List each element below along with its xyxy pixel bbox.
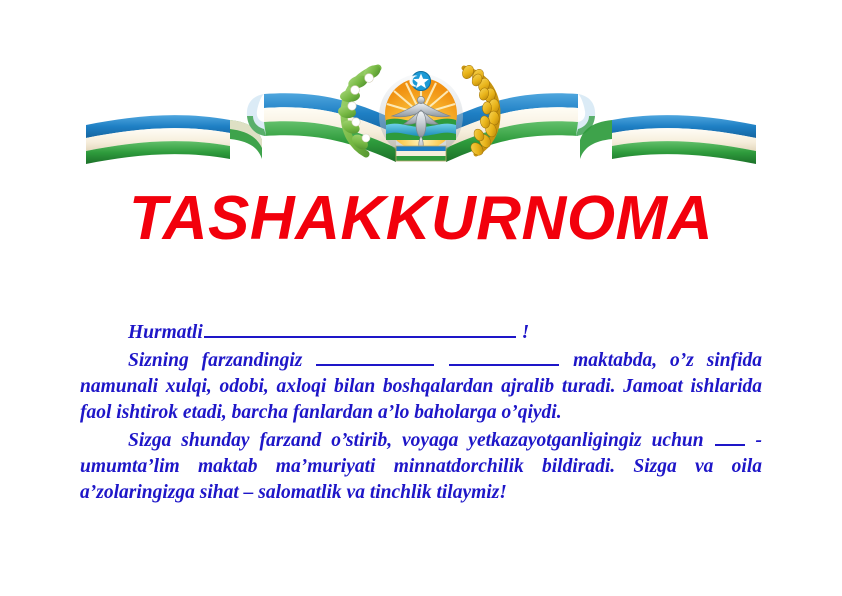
child-name-blank[interactable] — [316, 346, 434, 366]
uzbekistan-state-emblem — [0, 28, 842, 168]
certificate-body: Hurmatli ! Sizning farzandingiz maktabda… — [80, 318, 762, 506]
ribbon-right-tail — [580, 115, 756, 164]
paragraph-gratitude: Sizga shunday farzand o’stirib, voyaga y… — [80, 426, 762, 506]
ribbon-left-sweep — [247, 93, 396, 162]
school-number-blank[interactable] — [449, 346, 559, 366]
page-title: TASHAKKURNOMA — [0, 186, 842, 251]
ribbon-left-tail — [86, 115, 230, 164]
greeting-label: Hurmatli — [128, 322, 203, 343]
certificate-page: TASHAKKURNOMA Hurmatli ! Sizning farzand… — [0, 0, 842, 596]
paragraph-child-praise: Sizning farzandingiz maktabda, o’z sinfi… — [80, 346, 762, 426]
recipient-name-blank[interactable] — [204, 318, 516, 338]
child-lead-text: Sizning farzandingiz — [128, 350, 302, 371]
ribbon-knot-icon — [396, 146, 446, 161]
gratitude-text-part1: Sizga shunday farzand o’stirib, voyaga y… — [128, 430, 704, 451]
school-name-blank[interactable] — [715, 426, 745, 446]
greeting-exclamation: ! — [522, 322, 530, 343]
ribbon-right-sweep — [446, 93, 595, 162]
greeting-line: Hurmatli ! — [80, 318, 762, 346]
